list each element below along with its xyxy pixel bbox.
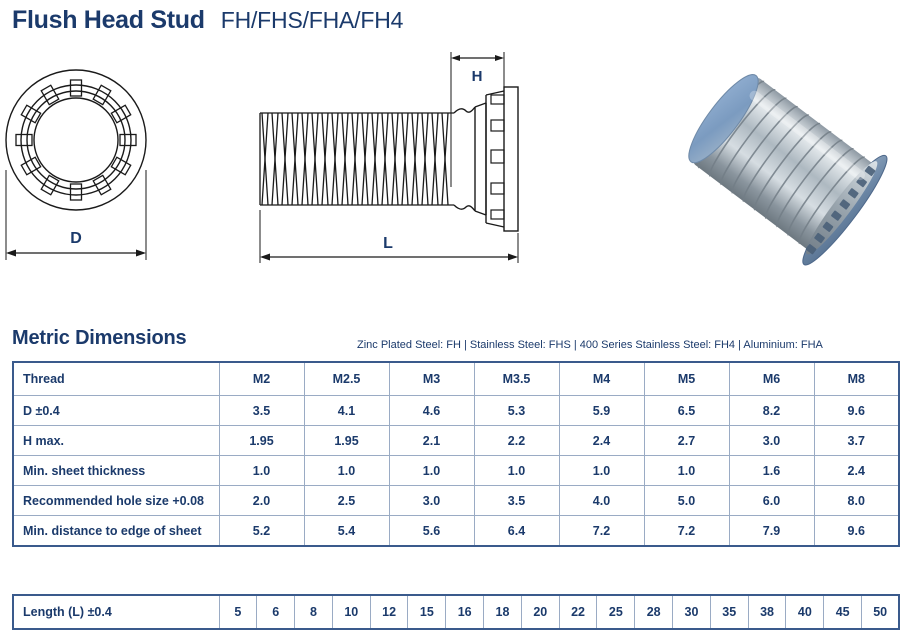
header-cell-m5: M5 xyxy=(644,362,729,396)
cell-hmax-m5: 2.7 xyxy=(644,426,729,456)
table-header-row: Thread M2 M2.5 M3 M3.5 M4 M5 M6 M8 xyxy=(13,362,899,396)
page-title: Flush Head Stud xyxy=(12,6,205,35)
flange-serration-teeth xyxy=(491,95,504,219)
table-row: D ±0.4 3.5 4.1 4.6 5.3 5.9 6.5 8.2 9.6 xyxy=(13,396,899,426)
cell-hmax-m25: 1.95 xyxy=(304,426,389,456)
cell-mde-m25: 5.4 xyxy=(304,516,389,547)
length-cell-10: 25 xyxy=(597,595,635,629)
table-row: Min. distance to edge of sheet 5.2 5.4 5… xyxy=(13,516,899,547)
serration-root-circle xyxy=(21,85,131,195)
length-cell-16: 45 xyxy=(824,595,862,629)
header-cell-m2: M2 xyxy=(219,362,304,396)
shank-outer-circle xyxy=(27,91,125,189)
length-cell-7: 18 xyxy=(484,595,522,629)
cell-mst-m8: 2.4 xyxy=(814,456,899,486)
header-cell-m6: M6 xyxy=(729,362,814,396)
dimension-label-d: D xyxy=(70,230,82,247)
dimension-label-h: H xyxy=(472,68,483,85)
cell-d-m35: 5.3 xyxy=(474,396,559,426)
render-svg xyxy=(655,50,905,280)
length-cell-3: 10 xyxy=(332,595,370,629)
length-options-table: Length (L) ±0.4 5 6 8 10 12 15 16 18 20 … xyxy=(12,594,900,630)
arrow-left-h xyxy=(451,55,460,61)
cell-mde-m35: 6.4 xyxy=(474,516,559,547)
cell-rhs-m2: 2.0 xyxy=(219,486,304,516)
cell-hmax-m8: 3.7 xyxy=(814,426,899,456)
cell-mde-m8: 9.6 xyxy=(814,516,899,547)
top-view-svg: D xyxy=(4,45,184,285)
page-header: Flush Head Stud FH/FHS/FHA/FH4 xyxy=(12,6,403,35)
row-label-hmax: H max. xyxy=(13,426,219,456)
cell-hmax-m2: 1.95 xyxy=(219,426,304,456)
cell-d-m6: 8.2 xyxy=(729,396,814,426)
cell-rhs-m3: 3.0 xyxy=(389,486,474,516)
cell-hmax-m6: 3.0 xyxy=(729,426,814,456)
row-label-length: Length (L) ±0.4 xyxy=(13,595,219,629)
length-cell-8: 20 xyxy=(521,595,559,629)
cell-hmax-m4: 2.4 xyxy=(559,426,644,456)
cell-d-m5: 6.5 xyxy=(644,396,729,426)
table-row: Recommended hole size +0.08 2.0 2.5 3.0 … xyxy=(13,486,899,516)
header-cell-m35: M3.5 xyxy=(474,362,559,396)
arrow-right-l xyxy=(508,254,518,261)
cell-rhs-m35: 3.5 xyxy=(474,486,559,516)
length-cell-0: 5 xyxy=(219,595,257,629)
length-cell-1: 6 xyxy=(257,595,295,629)
length-cell-2: 8 xyxy=(295,595,333,629)
section-heading: Metric Dimensions xyxy=(12,327,186,350)
shank-inner-circle xyxy=(34,98,118,182)
header-cell-m25: M2.5 xyxy=(304,362,389,396)
metric-dimensions-table: Thread M2 M2.5 M3 M3.5 M4 M5 M6 M8 D ±0.… xyxy=(12,361,900,547)
arrow-left-l xyxy=(260,254,270,261)
cell-d-m2: 3.5 xyxy=(219,396,304,426)
figure-side-view: H xyxy=(248,45,528,285)
length-cell-12: 30 xyxy=(673,595,711,629)
length-cell-6: 16 xyxy=(446,595,484,629)
cell-d-m3: 4.6 xyxy=(389,396,474,426)
cell-hmax-m3: 2.1 xyxy=(389,426,474,456)
drawings-row: D H xyxy=(0,45,910,295)
figure-3d-render xyxy=(655,50,905,280)
row-label-min-distance-edge: Min. distance to edge of sheet xyxy=(13,516,219,547)
cell-d-m4: 5.9 xyxy=(559,396,644,426)
thread-profile xyxy=(260,113,454,205)
cell-mde-m3: 5.6 xyxy=(389,516,474,547)
side-view-svg: H xyxy=(248,45,528,285)
length-cell-15: 40 xyxy=(786,595,824,629)
cell-mst-m3: 1.0 xyxy=(389,456,474,486)
cell-rhs-m25: 2.5 xyxy=(304,486,389,516)
datasheet-page: Flush Head Stud FH/FHS/FHA/FH4 xyxy=(0,0,910,634)
cell-mst-m6: 1.6 xyxy=(729,456,814,486)
cell-mde-m2: 5.2 xyxy=(219,516,304,547)
header-cell-m8: M8 xyxy=(814,362,899,396)
length-row: Length (L) ±0.4 5 6 8 10 12 15 16 18 20 … xyxy=(13,595,899,629)
cell-mst-m2: 1.0 xyxy=(219,456,304,486)
stud-body-group xyxy=(671,55,896,271)
table-row: H max. 1.95 1.95 2.1 2.2 2.4 2.7 3.0 3.7 xyxy=(13,426,899,456)
header-cell-m4: M4 xyxy=(559,362,644,396)
length-cell-17: 50 xyxy=(862,595,900,629)
cell-mst-m35: 1.0 xyxy=(474,456,559,486)
cell-mst-m25: 1.0 xyxy=(304,456,389,486)
row-label-min-sheet-thickness: Min. sheet thickness xyxy=(13,456,219,486)
cell-d-m8: 9.6 xyxy=(814,396,899,426)
cell-mst-m5: 1.0 xyxy=(644,456,729,486)
cell-mde-m4: 7.2 xyxy=(559,516,644,547)
arrow-right-h xyxy=(495,55,504,61)
length-cell-9: 22 xyxy=(559,595,597,629)
header-cell-thread: Thread xyxy=(13,362,219,396)
head-undercut xyxy=(454,103,486,215)
length-cell-4: 12 xyxy=(370,595,408,629)
length-cell-5: 15 xyxy=(408,595,446,629)
row-label-d: D ±0.4 xyxy=(13,396,219,426)
section-material-note: Zinc Plated Steel: FH | Stainless Steel:… xyxy=(357,339,823,351)
cell-mde-m6: 7.9 xyxy=(729,516,814,547)
cell-rhs-m4: 4.0 xyxy=(559,486,644,516)
arrow-right-d xyxy=(136,250,146,257)
length-cell-11: 28 xyxy=(635,595,673,629)
product-codes: FH/FHS/FHA/FH4 xyxy=(221,7,403,34)
arrow-left-d xyxy=(6,250,16,257)
cell-rhs-m5: 5.0 xyxy=(644,486,729,516)
header-cell-m3: M3 xyxy=(389,362,474,396)
dimension-label-l: L xyxy=(383,235,393,252)
cell-rhs-m8: 8.0 xyxy=(814,486,899,516)
figure-top-view: D xyxy=(4,45,184,285)
cell-rhs-m6: 6.0 xyxy=(729,486,814,516)
row-label-recommended-hole-size: Recommended hole size +0.08 xyxy=(13,486,219,516)
cell-d-m25: 4.1 xyxy=(304,396,389,426)
length-cell-13: 35 xyxy=(710,595,748,629)
length-cell-14: 38 xyxy=(748,595,786,629)
cell-hmax-m35: 2.2 xyxy=(474,426,559,456)
cell-mde-m5: 7.2 xyxy=(644,516,729,547)
table-row: Min. sheet thickness 1.0 1.0 1.0 1.0 1.0… xyxy=(13,456,899,486)
cell-mst-m4: 1.0 xyxy=(559,456,644,486)
